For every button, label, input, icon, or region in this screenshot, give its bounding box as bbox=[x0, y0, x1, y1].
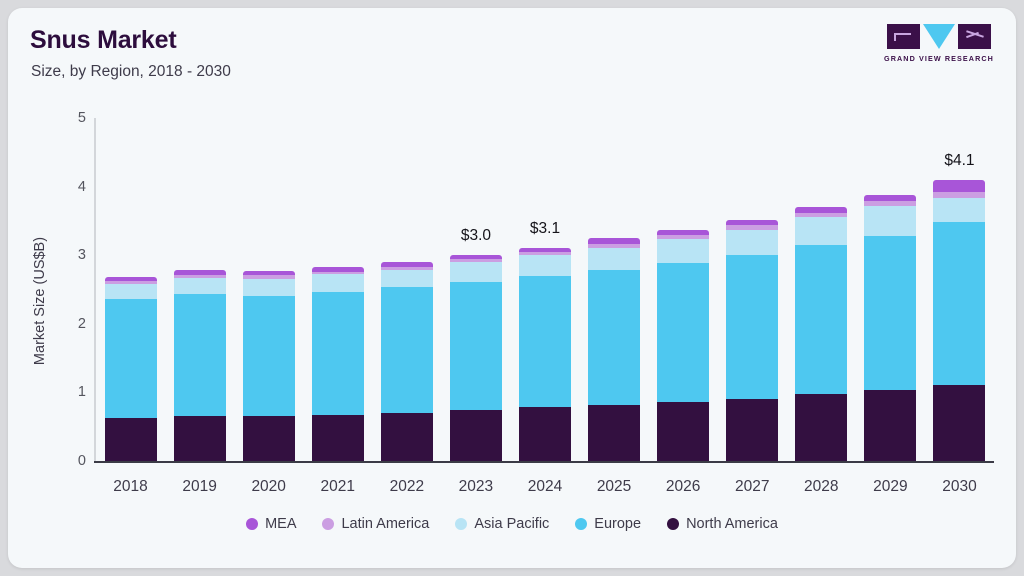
x-axis-tick-label: 2020 bbox=[239, 478, 299, 496]
bar-segment-latin-america[interactable] bbox=[312, 272, 364, 275]
bar-segment-north-america[interactable] bbox=[726, 399, 778, 461]
chart-legend: MEALatin AmericaAsia PacificEuropeNorth … bbox=[8, 516, 1016, 532]
bar-segment-mea[interactable] bbox=[105, 277, 157, 281]
bar-segment-north-america[interactable] bbox=[312, 415, 364, 461]
x-axis-tick-label: 2021 bbox=[308, 478, 368, 496]
bar-segment-north-america[interactable] bbox=[657, 402, 709, 461]
bar-stack[interactable] bbox=[243, 118, 295, 461]
y-axis-tick-label: 2 bbox=[60, 316, 86, 332]
bar-segment-europe[interactable] bbox=[933, 222, 985, 385]
bar-segment-mea[interactable] bbox=[381, 262, 433, 267]
bar-segment-asia-pacific[interactable] bbox=[588, 248, 640, 270]
bar-segment-north-america[interactable] bbox=[450, 410, 502, 461]
bar-segment-north-america[interactable] bbox=[933, 385, 985, 461]
x-axis-tick-label: 2018 bbox=[101, 478, 161, 496]
y-axis-tick-label: 4 bbox=[60, 179, 86, 195]
legend-item-europe[interactable]: Europe bbox=[575, 516, 641, 532]
x-axis-tick-label: 2029 bbox=[860, 478, 920, 496]
bar-segment-europe[interactable] bbox=[864, 236, 916, 390]
bar-segment-latin-america[interactable] bbox=[657, 235, 709, 239]
bar-segment-latin-america[interactable] bbox=[105, 281, 157, 284]
bar-stack[interactable] bbox=[588, 118, 640, 461]
legend-label: North America bbox=[686, 516, 778, 532]
bar-segment-europe[interactable] bbox=[588, 270, 640, 405]
chart-card: Snus Market Size, by Region, 2018 - 2030… bbox=[8, 8, 1016, 568]
bar-segment-europe[interactable] bbox=[450, 282, 502, 410]
bar-segment-north-america[interactable] bbox=[864, 390, 916, 461]
x-axis-tick-label: 2019 bbox=[170, 478, 230, 496]
y-axis-tick-label: 3 bbox=[60, 247, 86, 263]
bar-segment-latin-america[interactable] bbox=[933, 192, 985, 198]
bar-segment-asia-pacific[interactable] bbox=[450, 262, 502, 282]
bar-segment-mea[interactable] bbox=[174, 270, 226, 275]
bar-segment-mea[interactable] bbox=[933, 180, 985, 192]
bar-stack[interactable] bbox=[726, 118, 778, 461]
y-axis-tick-label: 0 bbox=[60, 453, 86, 469]
bar-stack[interactable] bbox=[450, 118, 502, 461]
bar-segment-north-america[interactable] bbox=[243, 416, 295, 461]
bar-segment-north-america[interactable] bbox=[381, 413, 433, 461]
bar-segment-north-america[interactable] bbox=[519, 407, 571, 461]
bar-segment-europe[interactable] bbox=[657, 263, 709, 402]
bar-segment-latin-america[interactable] bbox=[519, 252, 571, 255]
bar-segment-asia-pacific[interactable] bbox=[105, 284, 157, 299]
legend-color-swatch-icon bbox=[575, 518, 587, 530]
bar-segment-latin-america[interactable] bbox=[381, 267, 433, 270]
bar-segment-latin-america[interactable] bbox=[450, 259, 502, 262]
bar-segment-latin-america[interactable] bbox=[726, 225, 778, 230]
legend-label: MEA bbox=[265, 516, 296, 532]
y-axis-line bbox=[94, 118, 96, 463]
bar-segment-asia-pacific[interactable] bbox=[174, 278, 226, 294]
x-axis-tick-label: 2027 bbox=[722, 478, 782, 496]
x-axis-tick-label: 2030 bbox=[929, 478, 989, 496]
bar-stack[interactable] bbox=[795, 118, 847, 461]
x-axis-tick-label: 2024 bbox=[515, 478, 575, 496]
bar-segment-latin-america[interactable] bbox=[795, 213, 847, 218]
x-axis-tick-label: 2023 bbox=[446, 478, 506, 496]
bar-segment-europe[interactable] bbox=[312, 292, 364, 415]
bar-segment-asia-pacific[interactable] bbox=[657, 239, 709, 263]
bar-value-label: $4.1 bbox=[924, 152, 994, 170]
legend-color-swatch-icon bbox=[322, 518, 334, 530]
bar-segment-europe[interactable] bbox=[519, 276, 571, 408]
legend-color-swatch-icon bbox=[455, 518, 467, 530]
y-axis-tick-label: 5 bbox=[60, 110, 86, 126]
bar-segment-latin-america[interactable] bbox=[174, 275, 226, 278]
bar-segment-asia-pacific[interactable] bbox=[312, 274, 364, 292]
bar-segment-asia-pacific[interactable] bbox=[795, 217, 847, 244]
bar-stack[interactable] bbox=[657, 118, 709, 461]
bar-segment-asia-pacific[interactable] bbox=[381, 270, 433, 287]
bar-stack[interactable] bbox=[105, 118, 157, 461]
x-axis-tick-label: 2028 bbox=[791, 478, 851, 496]
bar-stack[interactable] bbox=[381, 118, 433, 461]
legend-label: Europe bbox=[594, 516, 641, 532]
bar-segment-europe[interactable] bbox=[105, 299, 157, 418]
x-axis-tick-label: 2025 bbox=[584, 478, 644, 496]
bar-segment-latin-america[interactable] bbox=[588, 244, 640, 248]
bar-segment-north-america[interactable] bbox=[174, 416, 226, 461]
bar-segment-mea[interactable] bbox=[312, 267, 364, 272]
bar-segment-mea[interactable] bbox=[795, 207, 847, 212]
y-axis-title: Market Size (US$B) bbox=[32, 151, 48, 451]
legend-item-asia-pacific[interactable]: Asia Pacific bbox=[455, 516, 549, 532]
bar-segment-asia-pacific[interactable] bbox=[519, 255, 571, 276]
bar-stack[interactable] bbox=[864, 118, 916, 461]
bar-segment-europe[interactable] bbox=[795, 245, 847, 394]
bar-segment-asia-pacific[interactable] bbox=[864, 206, 916, 235]
bar-value-label: $3.0 bbox=[441, 227, 511, 245]
bar-segment-asia-pacific[interactable] bbox=[933, 198, 985, 222]
bar-value-label: $3.1 bbox=[510, 220, 580, 238]
bar-segment-mea[interactable] bbox=[519, 248, 571, 252]
x-axis-line bbox=[94, 461, 994, 463]
bar-segment-europe[interactable] bbox=[174, 294, 226, 417]
bar-segment-north-america[interactable] bbox=[105, 418, 157, 461]
legend-item-mea[interactable]: MEA bbox=[246, 516, 296, 532]
bar-segment-mea[interactable] bbox=[588, 238, 640, 243]
chart-plot-area: Market Size (US$B) 012345 20182019202020… bbox=[8, 8, 1016, 568]
legend-color-swatch-icon bbox=[667, 518, 679, 530]
x-axis-tick-label: 2026 bbox=[653, 478, 713, 496]
bar-segment-mea[interactable] bbox=[450, 255, 502, 259]
bar-segment-mea[interactable] bbox=[864, 195, 916, 201]
y-axis-tick-label: 1 bbox=[60, 384, 86, 400]
bar-segment-europe[interactable] bbox=[243, 296, 295, 416]
bar-segment-north-america[interactable] bbox=[795, 394, 847, 461]
bar-segment-mea[interactable] bbox=[726, 220, 778, 225]
bar-segment-mea[interactable] bbox=[657, 230, 709, 235]
bar-segment-asia-pacific[interactable] bbox=[726, 230, 778, 255]
legend-label: Latin America bbox=[341, 516, 429, 532]
bar-segment-asia-pacific[interactable] bbox=[243, 279, 295, 297]
bar-segment-europe[interactable] bbox=[381, 287, 433, 413]
legend-color-swatch-icon bbox=[246, 518, 258, 530]
bar-segment-mea[interactable] bbox=[243, 271, 295, 275]
bar-segment-north-america[interactable] bbox=[588, 405, 640, 461]
bar-segment-latin-america[interactable] bbox=[864, 201, 916, 206]
legend-item-latin-america[interactable]: Latin America bbox=[322, 516, 429, 532]
legend-label: Asia Pacific bbox=[474, 516, 549, 532]
bar-segment-europe[interactable] bbox=[726, 255, 778, 399]
bar-segment-latin-america[interactable] bbox=[243, 275, 295, 278]
x-axis-tick-label: 2022 bbox=[377, 478, 437, 496]
bar-stack[interactable] bbox=[312, 118, 364, 461]
bar-stack[interactable] bbox=[174, 118, 226, 461]
legend-item-north-america[interactable]: North America bbox=[667, 516, 778, 532]
bar-stack[interactable] bbox=[519, 118, 571, 461]
